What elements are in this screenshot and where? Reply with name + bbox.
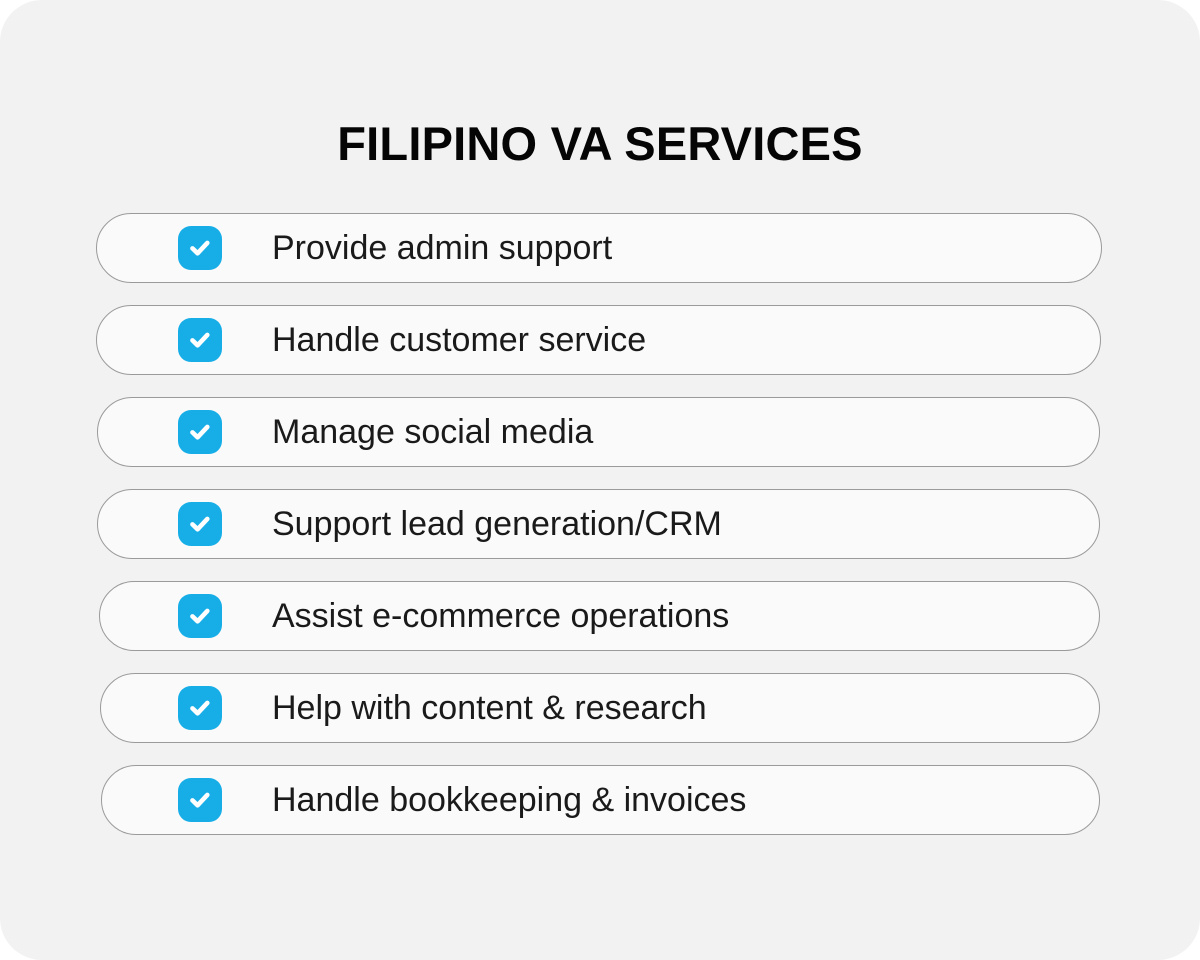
list-item-label: Provide admin support (272, 213, 612, 283)
checkbox-checked[interactable] (178, 594, 222, 638)
page-title: FILIPINO VA SERVICES (0, 112, 1200, 176)
checkbox-checked[interactable] (178, 318, 222, 362)
list-item-label: Handle customer service (272, 305, 646, 375)
checkbox-checked[interactable] (178, 686, 222, 730)
list-item[interactable]: Help with content & research (100, 673, 1100, 743)
checkbox-checked[interactable] (178, 778, 222, 822)
checkbox-checked[interactable] (178, 502, 222, 546)
list-item[interactable]: Manage social media (97, 397, 1100, 467)
services-checklist: Provide admin support Handle customer se… (0, 213, 1200, 835)
list-item[interactable]: Handle bookkeeping & invoices (101, 765, 1100, 835)
list-item-label: Handle bookkeeping & invoices (272, 765, 746, 835)
list-item-label: Assist e-commerce operations (272, 581, 729, 651)
checkbox-checked[interactable] (178, 410, 222, 454)
list-item[interactable]: Provide admin support (96, 213, 1102, 283)
list-item-label: Support lead generation/CRM (272, 489, 722, 559)
list-item[interactable]: Assist e-commerce operations (99, 581, 1100, 651)
checkbox-checked[interactable] (178, 226, 222, 270)
list-item[interactable]: Support lead generation/CRM (97, 489, 1100, 559)
list-item-label: Manage social media (272, 397, 593, 467)
services-card: FILIPINO VA SERVICES Provide admin suppo… (0, 0, 1200, 960)
list-item-label: Help with content & research (272, 673, 707, 743)
list-item[interactable]: Handle customer service (96, 305, 1101, 375)
